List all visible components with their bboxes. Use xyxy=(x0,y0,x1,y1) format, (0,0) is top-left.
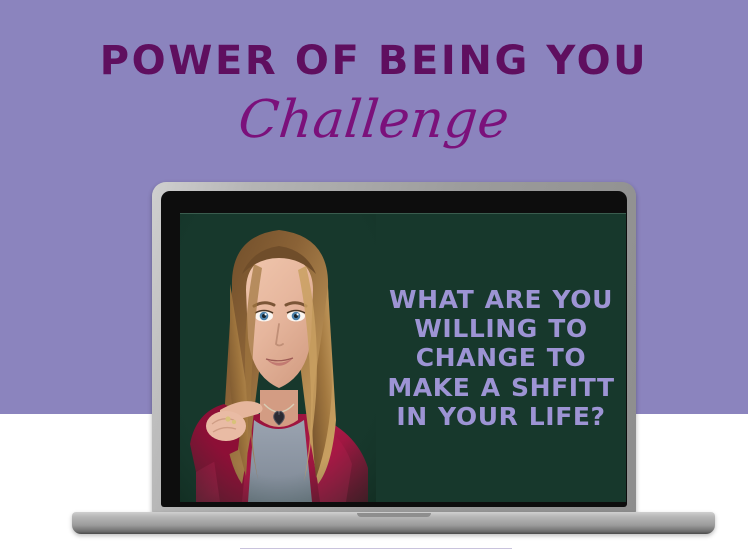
laptop-base-notch xyxy=(357,513,431,517)
laptop-bezel: WHAT ARE YOU WILLING TO CHANGE TO MAKE A… xyxy=(161,191,627,507)
laptop-screen: WHAT ARE YOU WILLING TO CHANGE TO MAKE A… xyxy=(180,213,626,502)
slide-canvas: POWER OF BEING YOU Challenge xyxy=(0,0,748,555)
screen-caption: WHAT ARE YOU WILLING TO CHANGE TO MAKE A… xyxy=(376,214,626,502)
presenter-portrait xyxy=(180,214,376,502)
caption-text: WHAT ARE YOU WILLING TO CHANGE TO MAKE A… xyxy=(376,285,626,431)
page-title: POWER OF BEING YOU xyxy=(0,41,748,81)
bottom-divider xyxy=(240,548,512,549)
laptop-base xyxy=(72,512,715,534)
laptop-lid: WHAT ARE YOU WILLING TO CHANGE TO MAKE A… xyxy=(152,182,636,516)
page-subtitle: Challenge xyxy=(0,93,748,148)
